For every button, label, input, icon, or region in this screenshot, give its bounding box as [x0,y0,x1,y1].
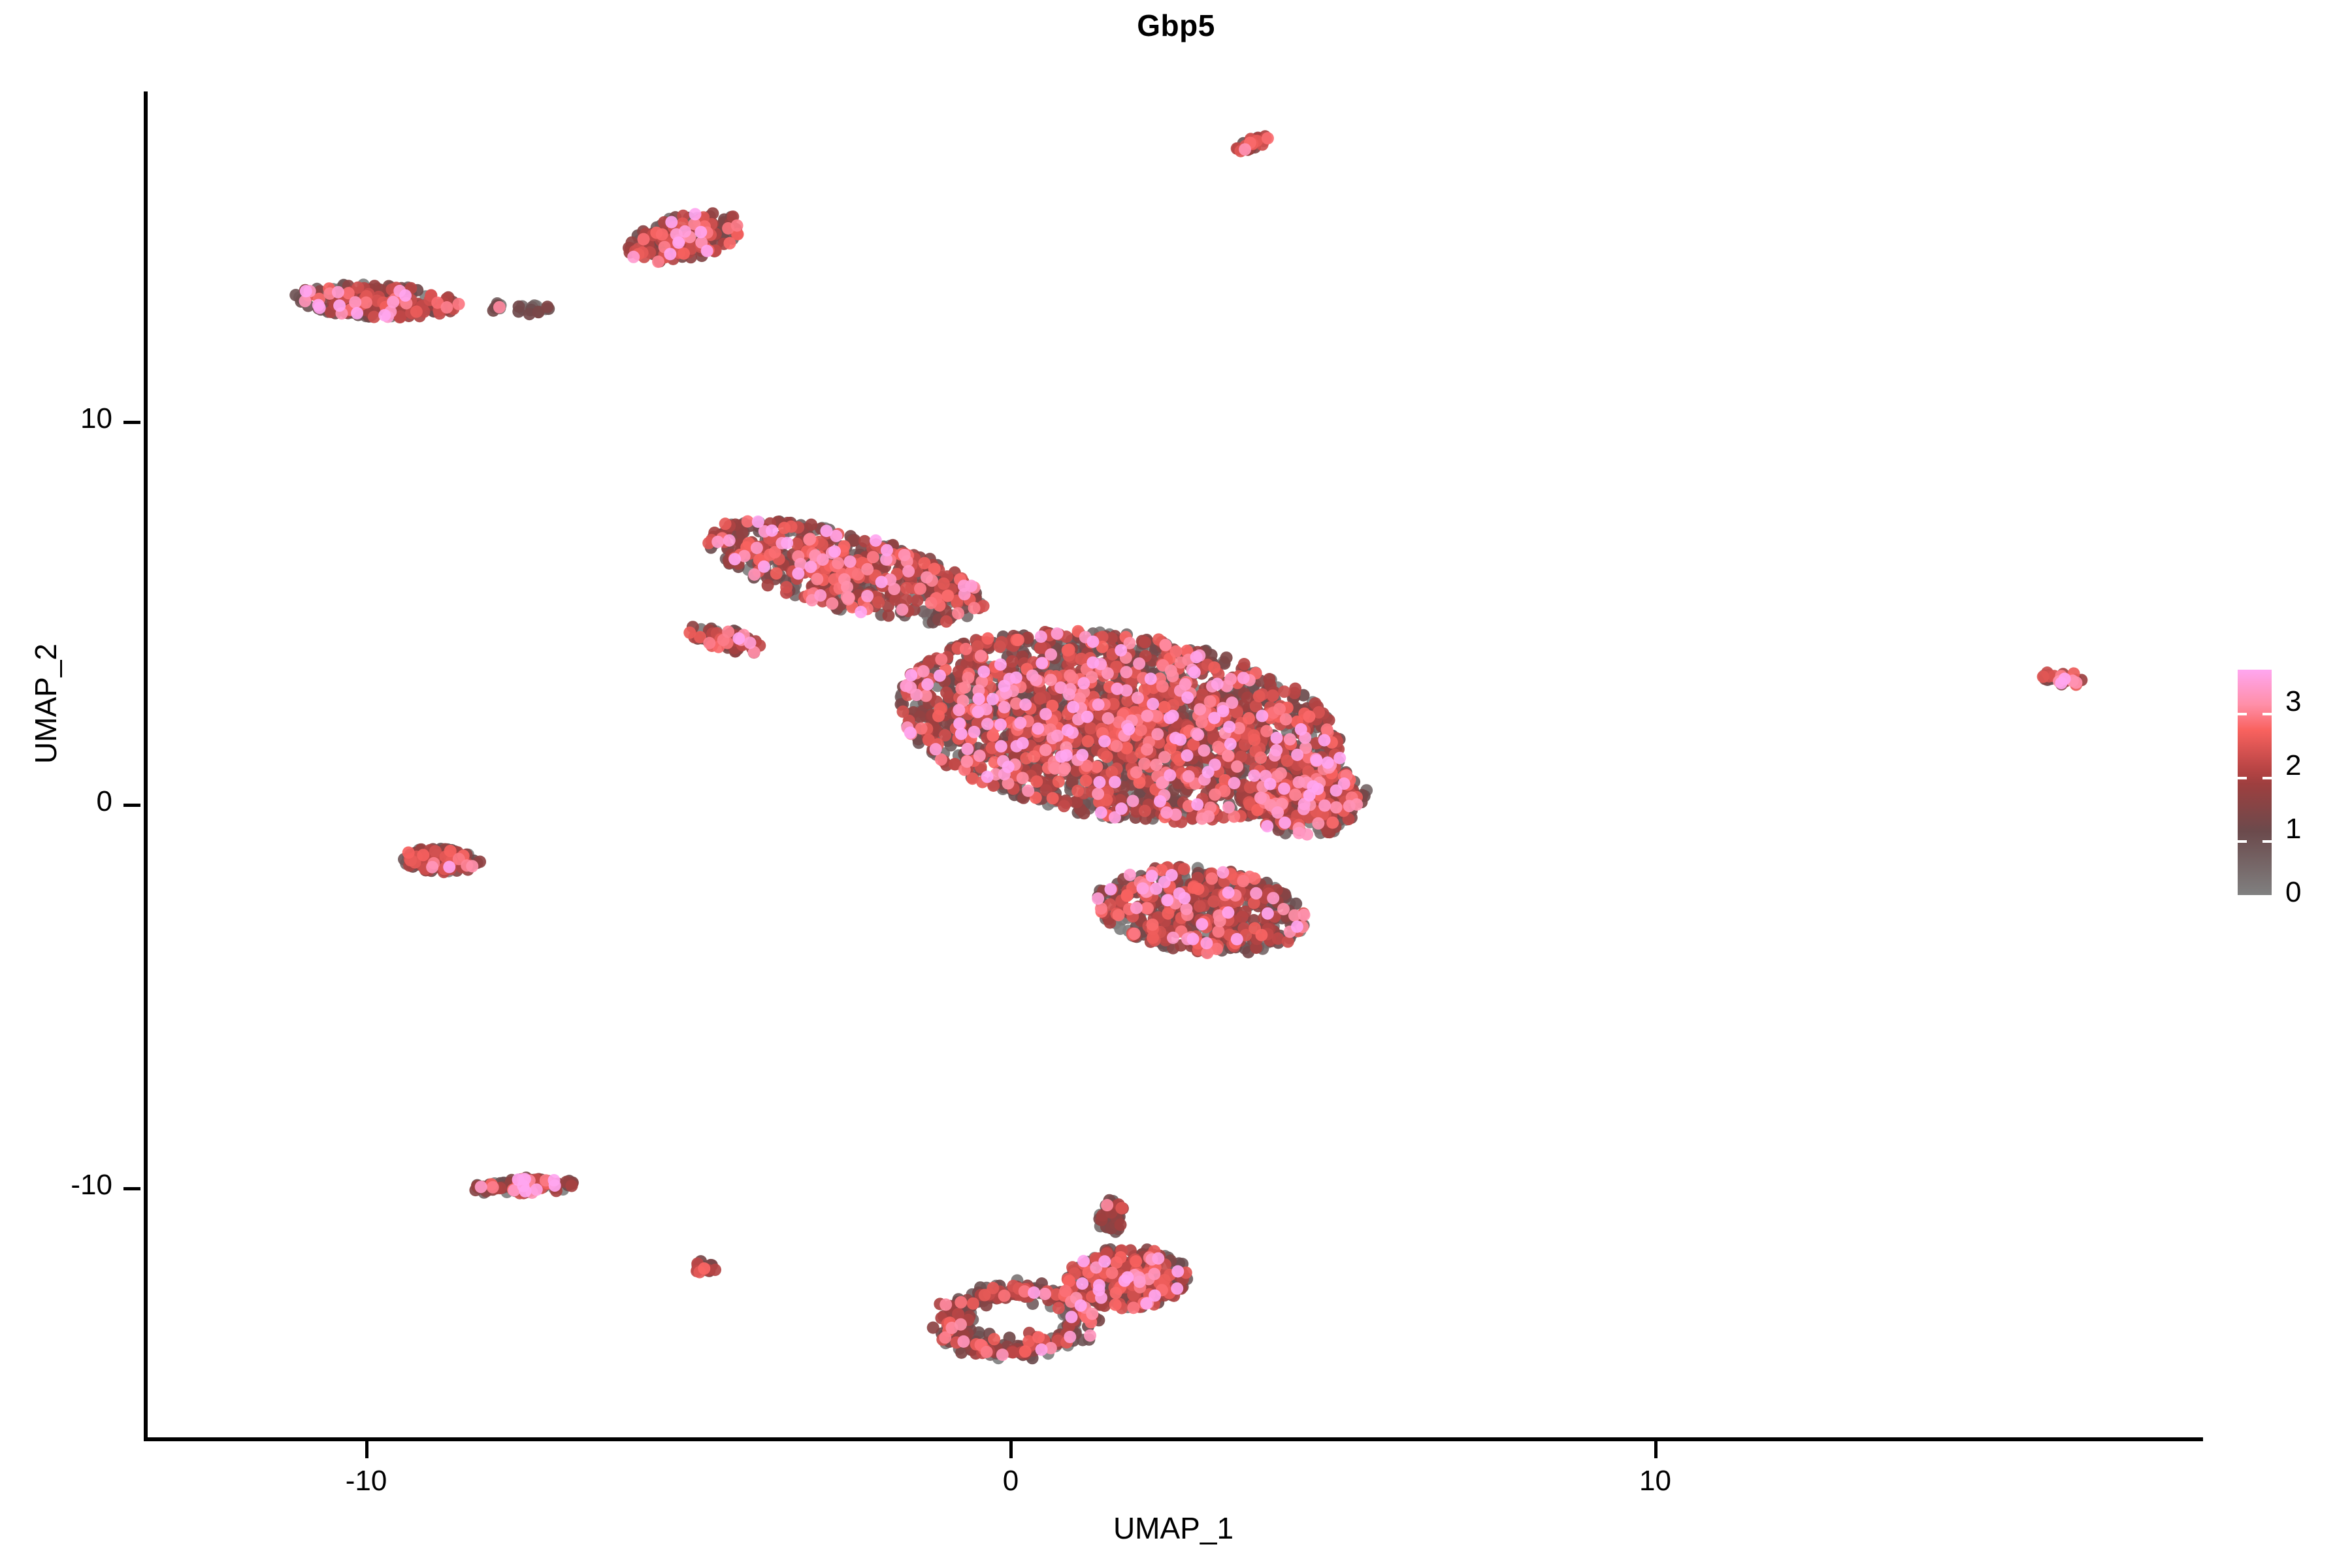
scatter-svg [144,91,2203,1439]
y-axis-title: UMAP_2 [28,593,63,815]
legend-tick-mark [2238,777,2247,779]
legend-tick-mark [2262,840,2272,843]
legend-label-3: 3 [2285,687,2331,717]
legend-label-1: 1 [2285,814,2331,844]
legend-tick-mark [2238,840,2247,843]
feature-plot-root: Gbp5 -10010 100-10 UMAP_1 UMAP_2 3210 [0,0,2352,1568]
page-title: Gbp5 [0,8,2352,43]
y-tick-label-10: 10 [0,404,112,434]
legend-tick-mark [2262,713,2272,715]
legend-label-2: 2 [2285,751,2331,781]
x-axis-title: UMAP_1 [144,1511,2203,1546]
legend-colorbar [2238,670,2272,895]
y-axis-line [144,91,148,1441]
x-tick-label--10: -10 [282,1466,451,1496]
plot-panel[interactable] [144,91,2203,1439]
legend-label-0: 0 [2285,877,2331,907]
y-tick-label--10: -10 [0,1170,112,1200]
y-tick-mark [123,804,140,807]
x-tick-mark [1654,1441,1658,1458]
y-tick-mark [123,1187,140,1190]
legend-colorbar-gradient [2238,670,2272,895]
x-tick-label-10: 10 [1571,1466,1740,1496]
x-axis-line [144,1437,2203,1441]
color-legend[interactable]: 3210 [2234,660,2349,908]
legend-tick-mark [2262,777,2272,779]
x-tick-label-0: 0 [926,1466,1096,1496]
y-tick-mark [123,421,140,424]
x-tick-mark [1009,1441,1013,1458]
legend-tick-mark [2238,713,2247,715]
scatter-points-layer [144,91,2203,1439]
x-tick-mark [365,1441,368,1458]
